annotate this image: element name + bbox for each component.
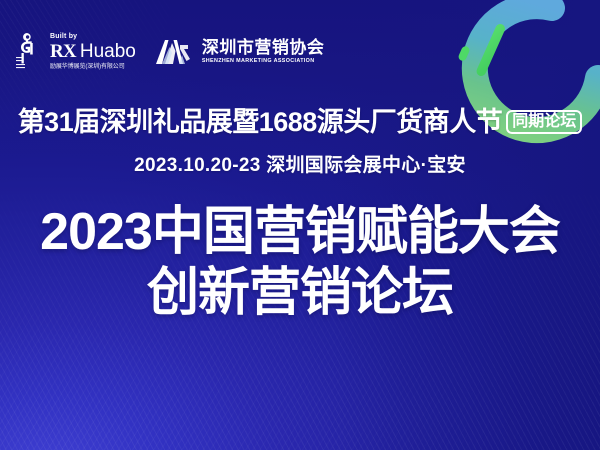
gh-gift-show-logo-icon: [14, 29, 38, 75]
exhibition-title-row: 第31届深圳礼品展暨1688源头厂货商人节 同期论坛: [0, 108, 600, 136]
main-title-line-1: 2023中国营销赋能大会: [0, 203, 600, 261]
exhibition-title: 第31届深圳礼品展暨1688源头厂货商人节: [18, 108, 503, 136]
built-by-label: Built by: [50, 33, 136, 40]
rx-wordmark: RX: [50, 42, 76, 61]
association-name-en: SHENZHEN MARKETING ASSOCIATION: [202, 59, 325, 64]
header-logo-row: Built by RX Huabo 励展华博展览(深圳)有限公司: [14, 27, 324, 77]
event-poster-banner: Built by RX Huabo 励展华博展览(深圳)有限公司: [0, 0, 600, 450]
organizer-logo: Built by RX Huabo 励展华博展览(深圳)有限公司: [48, 33, 136, 71]
association-mark-icon: [154, 37, 196, 67]
association-name-cn: 深圳市营销协会: [202, 39, 325, 56]
organizer-company-name-cn: 励展华博展览(深圳)有限公司: [50, 64, 136, 71]
concurrent-forum-badge: 同期论坛: [506, 110, 582, 135]
association-logo: 深圳市营销协会 SHENZHEN MARKETING ASSOCIATION: [154, 37, 325, 67]
date-and-venue: 2023.10.20-23 深圳国际会展中心·宝安: [0, 150, 600, 177]
huabo-wordmark: Huabo: [80, 42, 136, 61]
main-title-line-2: 创新营销论坛: [0, 264, 600, 322]
headline-block: 第31届深圳礼品展暨1688源头厂货商人节 同期论坛 2023.10.20-23…: [0, 108, 600, 322]
